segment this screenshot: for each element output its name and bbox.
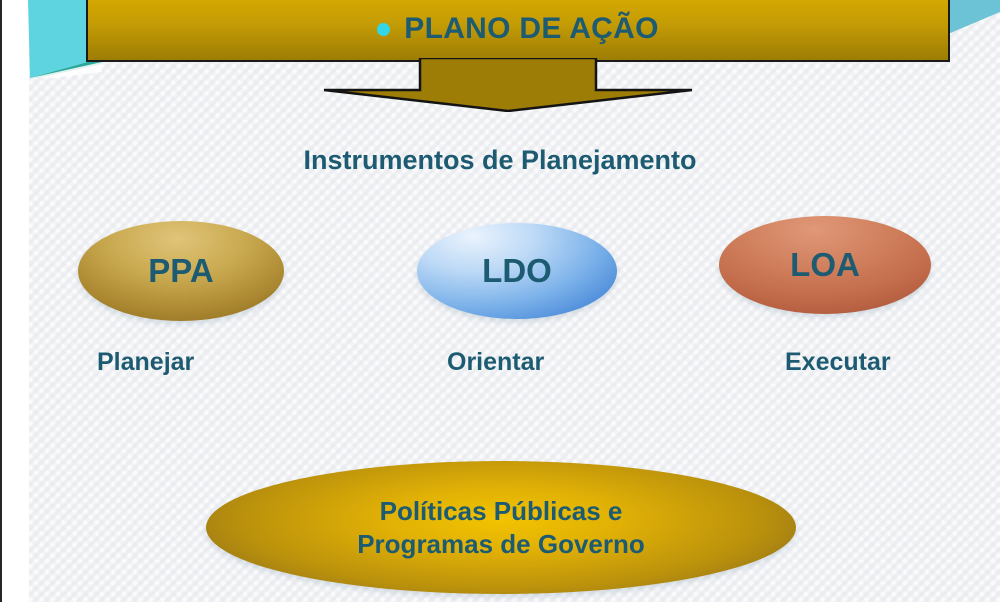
instrument-ellipse-ldo[interactable]: LDO xyxy=(417,223,617,319)
down-arrow-icon xyxy=(322,58,694,112)
instrument-verb-ppa: Planejar xyxy=(97,348,194,377)
outcome-line-2: Programas de Governo xyxy=(357,528,645,560)
instrument-verb-ldo: Orientar xyxy=(447,348,544,377)
page-title: PLANO DE AÇÃO xyxy=(404,12,658,46)
left-margin-strip xyxy=(2,0,29,602)
instrument-label-ppa: PPA xyxy=(148,252,213,290)
instrument-ellipse-loa[interactable]: LOA xyxy=(719,216,931,314)
outcome-ellipse[interactable]: Políticas Públicas e Programas de Govern… xyxy=(206,461,796,594)
left-edge-rule xyxy=(0,0,2,602)
slide-canvas: PLANO DE AÇÃO Instrumentos de Planejamen… xyxy=(0,0,1000,602)
instrument-label-ldo: LDO xyxy=(482,252,552,290)
instrument-ellipse-ppa[interactable]: PPA xyxy=(78,221,284,321)
section-subtitle: Instrumentos de Planejamento xyxy=(0,145,1000,176)
instrument-verb-loa: Executar xyxy=(785,348,891,377)
banner-content: PLANO DE AÇÃO xyxy=(377,12,658,46)
instrument-label-loa: LOA xyxy=(790,246,860,284)
outcome-line-1: Políticas Públicas e xyxy=(380,495,623,527)
cyan-corner-shape-right-icon xyxy=(948,0,1000,34)
bullet-dot-icon xyxy=(377,23,390,36)
plano-de-acao-banner: PLANO DE AÇÃO xyxy=(86,0,950,62)
